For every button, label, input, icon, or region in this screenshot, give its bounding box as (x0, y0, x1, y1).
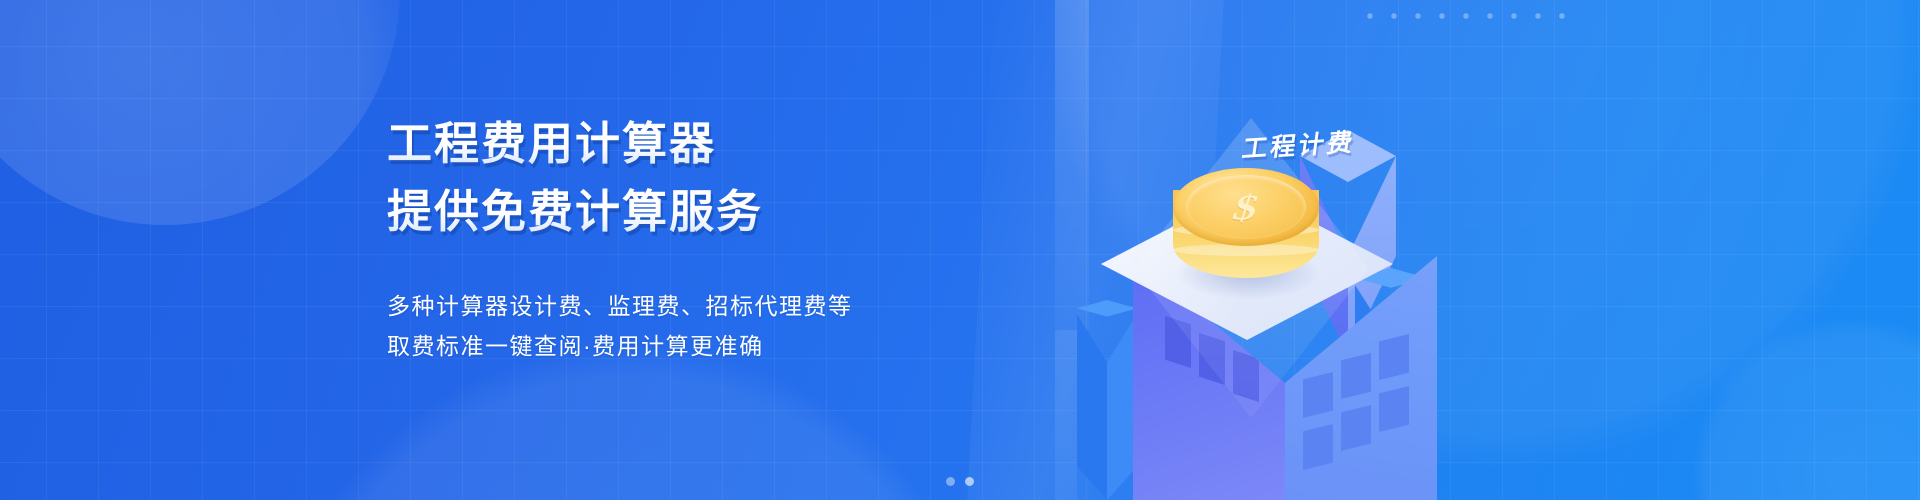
carousel-dot-2[interactable] (965, 477, 974, 486)
hero-copy-block: 工程费用计算器 提供免费计算服务 多种计算器设计费、监理费、招标代理费等 取费标… (387, 116, 1007, 366)
building-window (1379, 386, 1409, 432)
hero-subcopy-line1: 多种计算器设计费、监理费、招标代理费等 (387, 286, 1007, 326)
hero-headline-line2: 提供免费计算服务 (387, 184, 1007, 240)
pillar-left-side (1107, 314, 1137, 500)
hero-banner: 工程费用计算器 提供免费计算服务 多种计算器设计费、监理费、招标代理费等 取费标… (0, 0, 1920, 500)
dollar-sign-icon: $ (1163, 177, 1329, 238)
background-spire-right (1055, 330, 1077, 500)
background-spire-left (1055, 0, 1089, 330)
building-window (1341, 405, 1371, 451)
building-window (1303, 372, 1333, 418)
hero-subcopy-line2: 取费标准一键查阅·费用计算更准确 (387, 326, 1007, 366)
carousel-dot-1[interactable] (946, 477, 955, 486)
illustration-badge-label: 工程计费 (1240, 123, 1358, 166)
building-window (1303, 424, 1333, 470)
hero-subcopy: 多种计算器设计费、监理费、招标代理费等 取费标准一键查阅·费用计算更准确 (387, 286, 1007, 366)
carousel-indicators[interactable] (0, 477, 1920, 486)
hero-illustration: $ 工程计费 (1055, 0, 1595, 500)
pillar-left-face (1077, 314, 1107, 500)
hero-headline-line1: 工程费用计算器 (387, 116, 1007, 172)
building-window (1341, 353, 1371, 399)
gold-coin-icon: $ (1173, 168, 1323, 308)
building-window (1379, 334, 1409, 380)
